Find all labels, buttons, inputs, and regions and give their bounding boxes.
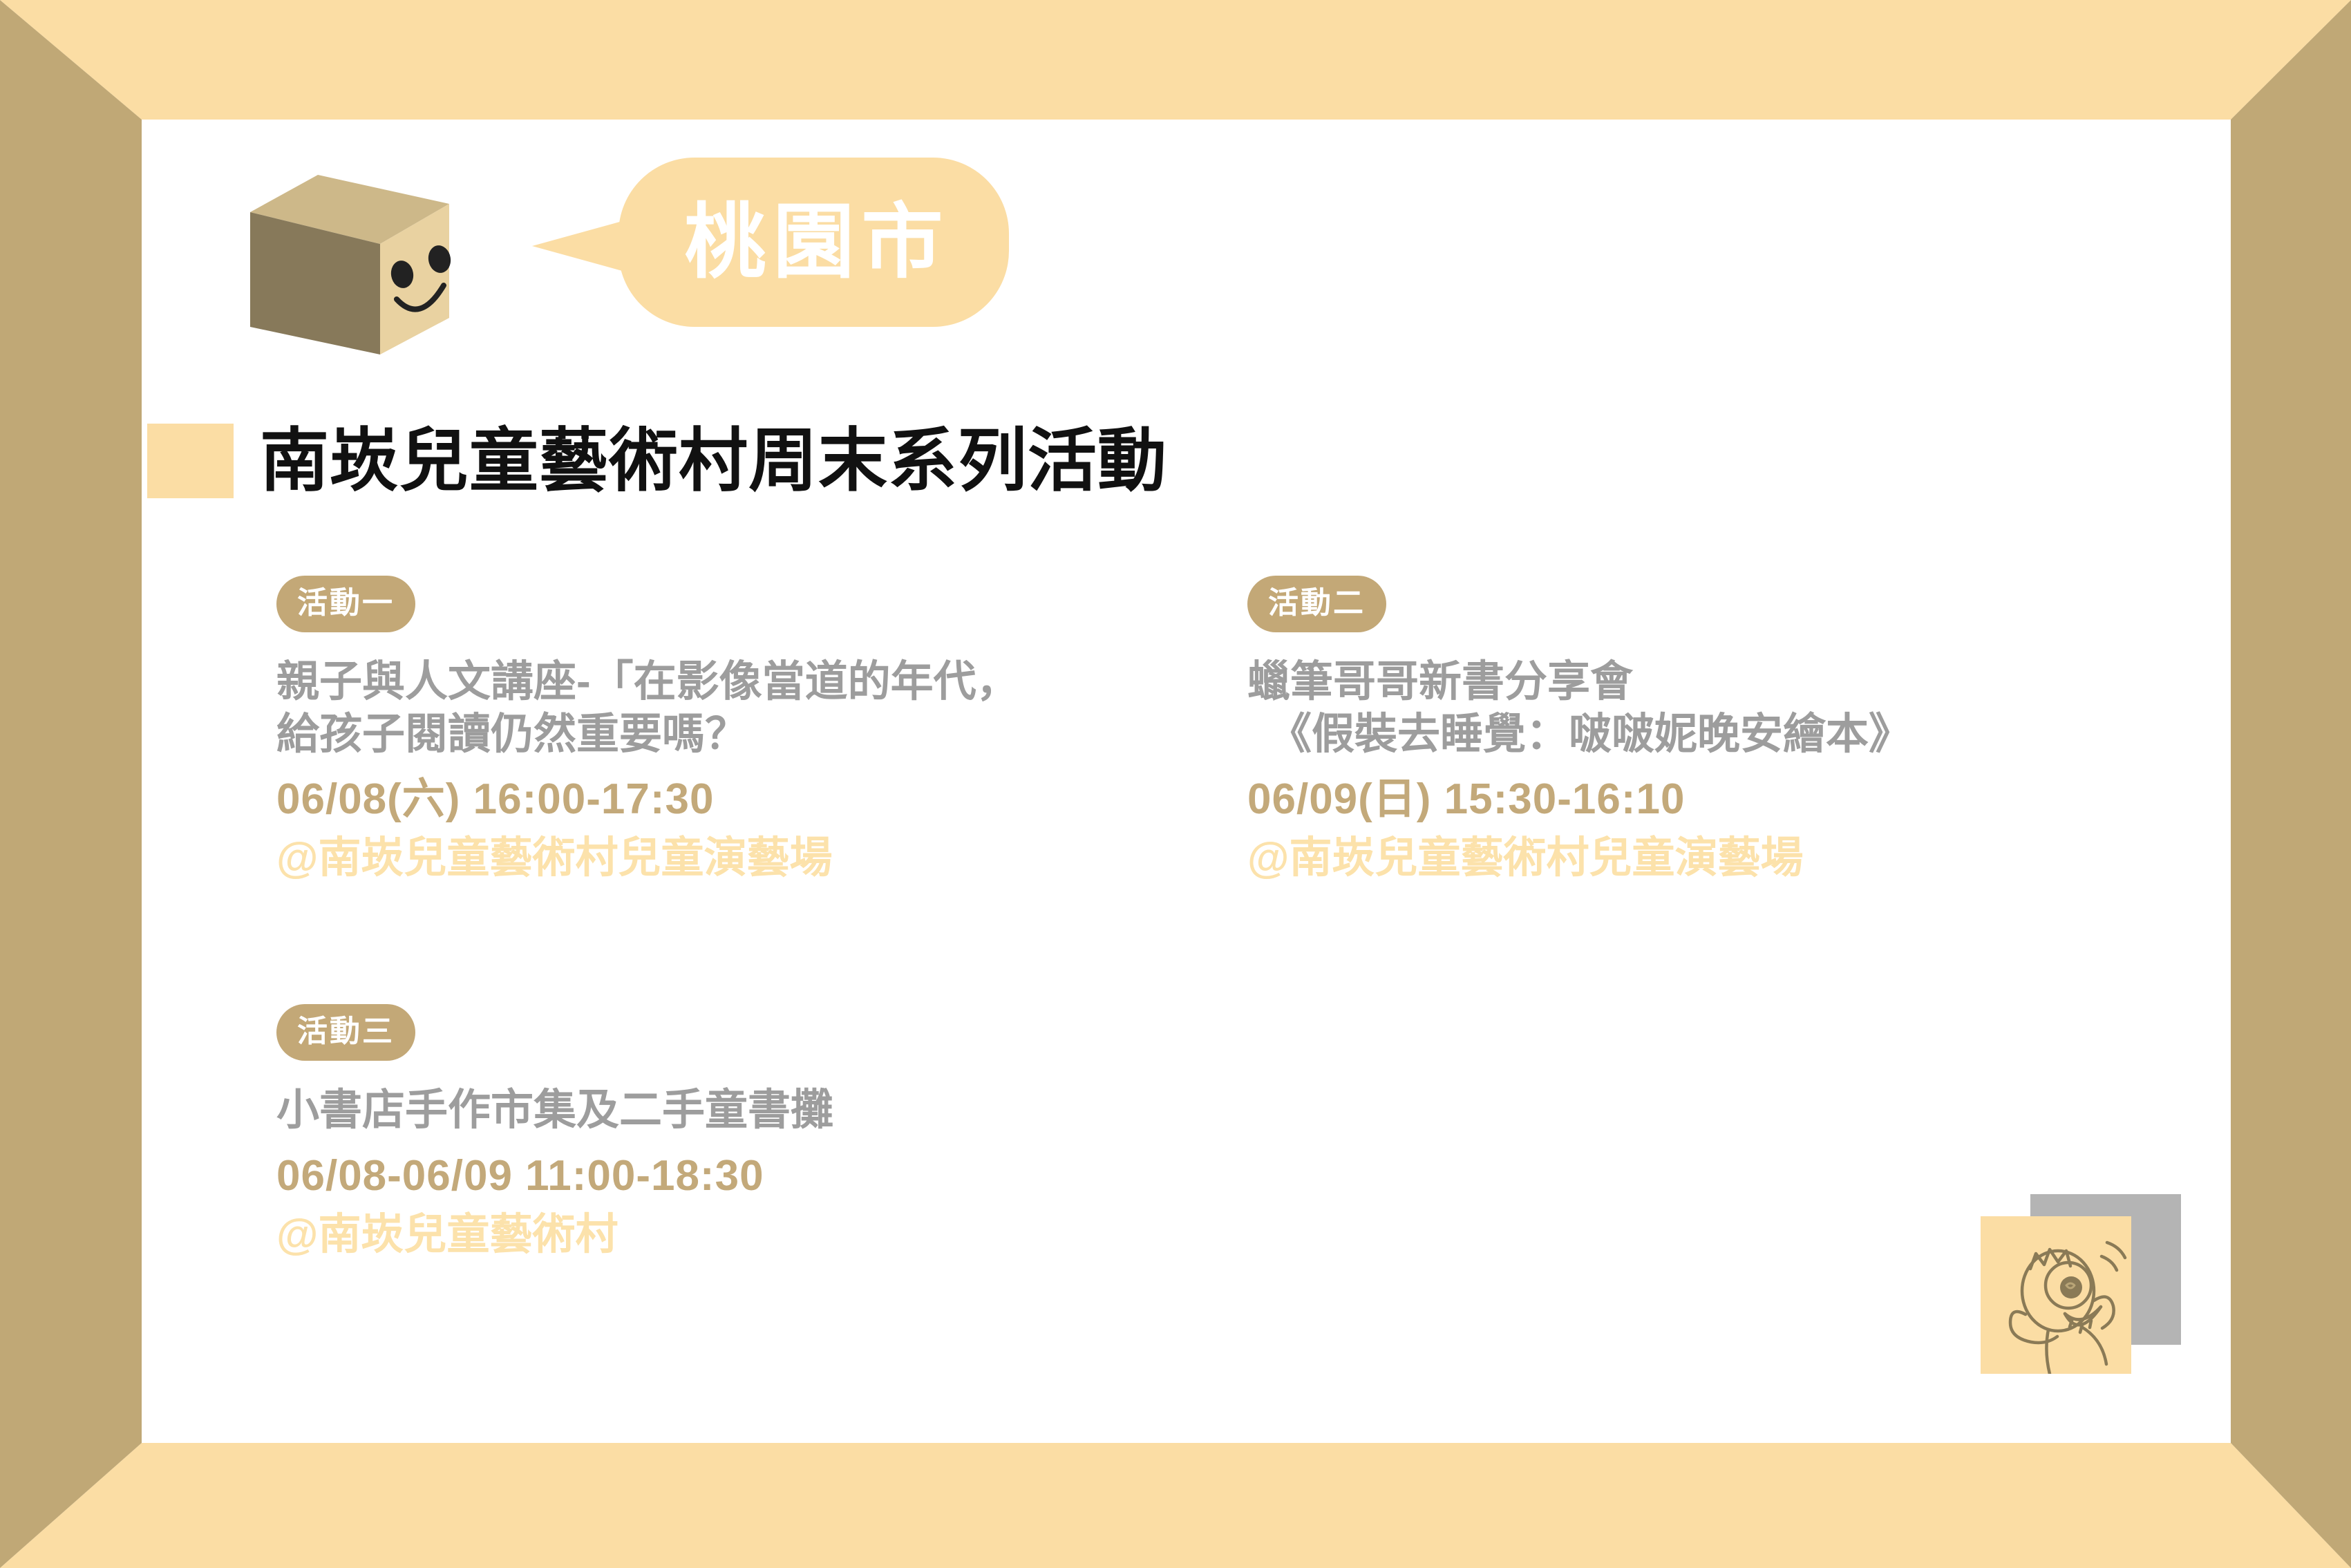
activity-title-2: 蠟筆哥哥新書分享會 《假裝去睡覺：啵啵妮晚安繪本》 [1247,656,2215,760]
activity-time-2: 06/09(日) 15:30-16:10 [1247,774,2215,824]
speech-bubble-tail [532,218,632,274]
frame-top-bar [0,0,2351,120]
activity-badge-3: 活動三 [276,1004,415,1061]
activity-venue-3: @南崁兒童藝術村 [276,1209,1244,1260]
poster-root: 桃園市 南崁兒童藝術村周末系列活動 活動一 親子與人文講座-「在影像當道的年代，… [0,0,2351,1568]
activity-title-3: 小書店手作市集及二手童書攤 [276,1084,1244,1137]
activity-card-2: 活動二 蠟筆哥哥新書分享會 《假裝去睡覺：啵啵妮晚安繪本》 06/09(日) 1… [1247,576,2215,884]
corner-illustration [1981,1194,2181,1374]
activity-venue-1: @南崁兒童藝術村兒童演藝場 [276,833,1244,883]
activity-card-3: 活動三 小書店手作市集及二手童書攤 06/08-06/09 11:00-18:3… [276,1004,1244,1260]
content-canvas: 桃園市 南崁兒童藝術村周末系列活動 活動一 親子與人文講座-「在影像當道的年代，… [142,120,2231,1443]
activity-badge-1: 活動一 [276,576,415,632]
activity-venue-2: @南崁兒童藝術村兒童演藝場 [1247,833,2215,883]
header-region: 桃園市 [142,120,2231,348]
activity-time-3: 06/08-06/09 11:00-18:30 [276,1151,1244,1201]
yellow-card [1981,1216,2131,1374]
city-name-label: 桃園市 [619,158,1009,327]
page-title-row: 南崁兒童藝術村周末系列活動 [142,424,1167,498]
activity-card-1: 活動一 親子與人文講座-「在影像當道的年代， 給孩子閱讀仍然重要嗎？ 06/08… [276,576,1244,884]
frame-right-bar [2231,0,2351,1568]
activity-time-1: 06/08(六) 16:00-17:30 [276,774,1244,824]
one-eyed-waving-monster-icon [1981,1216,2131,1374]
frame-left-bar [0,0,142,1568]
page-title: 南崁兒童藝術村周末系列活動 [260,426,1167,495]
smiling-box-mascot-icon [242,169,456,359]
activity-title-1: 親子與人文講座-「在影像當道的年代， 給孩子閱讀仍然重要嗎？ [276,656,1244,760]
frame-bottom-bar [0,1443,2351,1568]
title-marker-swatch [147,424,234,498]
activity-badge-2: 活動二 [1247,576,1386,632]
city-speech-bubble: 桃園市 [532,158,1009,327]
